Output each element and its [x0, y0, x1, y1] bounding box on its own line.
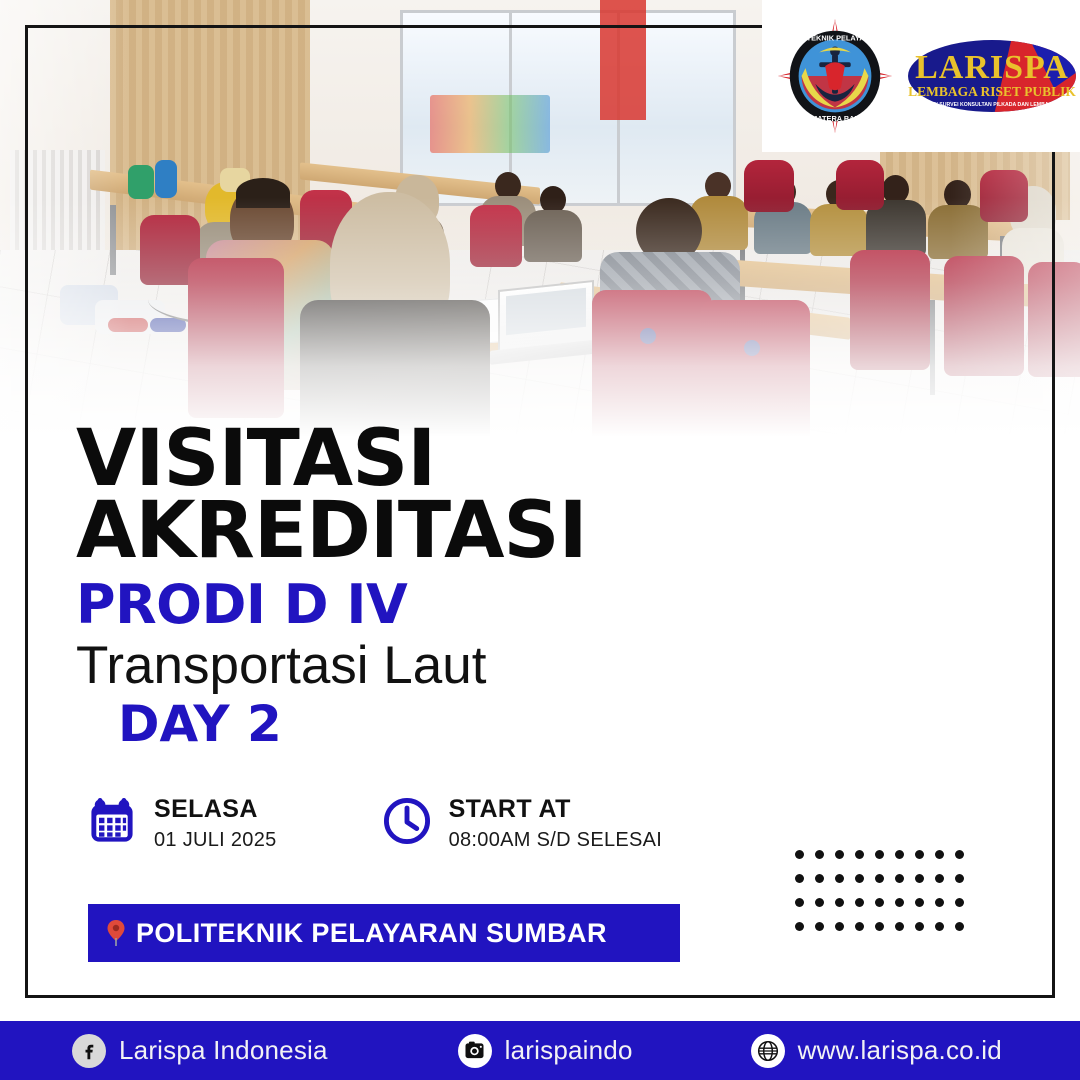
footer-facebook-label[interactable]: Larispa Indonesia: [119, 1035, 328, 1066]
logo-panel: POLITEKNIK PELAYARAN SUMATERA BARAT LARI…: [762, 0, 1080, 152]
footer-bar: Larispa Indonesia larispaindo: [0, 1021, 1080, 1080]
larispa-tagline: PENELITIAN SURVEI KONSULTAN PILKADA DAN …: [907, 102, 1077, 108]
footer-website-label[interactable]: www.larispa.co.id: [798, 1035, 1002, 1066]
seal-top-label: POLITEKNIK PELAYARAN: [789, 34, 880, 43]
day-label: DAY 2: [118, 699, 716, 749]
facebook-icon[interactable]: [72, 1034, 106, 1068]
event-info-row: SELASA 01 JULI 2025 START AT 08:00AM S/D…: [86, 795, 662, 852]
larispa-title: LARISPA: [915, 49, 1069, 86]
footer-facebook[interactable]: Larispa Indonesia: [72, 1034, 328, 1068]
headline-line-2: AKREDITASI: [76, 496, 716, 568]
event-time-value: 08:00AM S/D SELESAI: [449, 829, 663, 852]
event-time-item: START AT 08:00AM S/D SELESAI: [381, 795, 663, 852]
event-day-name: SELASA: [154, 795, 277, 824]
map-pin-icon: [106, 919, 126, 947]
headline-block: VISITASI AKREDITASI PRODI D IV Transport…: [76, 424, 716, 749]
event-time-title: START AT: [449, 795, 663, 824]
event-date-value: 01 JULI 2025: [154, 829, 277, 852]
politeknik-pelayaran-seal-icon: POLITEKNIK PELAYARAN SUMATERA BARAT: [776, 17, 894, 135]
event-date-item: SELASA 01 JULI 2025: [86, 795, 277, 852]
instagram-icon[interactable]: [458, 1034, 492, 1068]
footer-instagram[interactable]: larispaindo: [458, 1034, 633, 1068]
globe-icon[interactable]: [751, 1034, 785, 1068]
dot-grid-decoration: [795, 850, 975, 946]
footer-instagram-label[interactable]: larispaindo: [505, 1035, 633, 1066]
program-name: Transportasi Laut: [76, 638, 716, 694]
clock-icon: [381, 795, 433, 852]
larispa-logo-icon: LARISPA LEMBAGA RISET PUBLIK PENELITIAN …: [904, 28, 1080, 124]
location-banner: POLITEKNIK PELAYARAN SUMBAR: [88, 904, 680, 962]
footer-website[interactable]: www.larispa.co.id: [751, 1034, 1002, 1068]
calendar-icon: [86, 795, 138, 852]
larispa-subtitle: LEMBAGA RISET PUBLIK: [908, 84, 1076, 99]
location-label: POLITEKNIK PELAYARAN SUMBAR: [136, 918, 607, 949]
program-label: PRODI D IV: [76, 578, 716, 632]
headline-line-1: VISITASI: [76, 424, 716, 496]
seal-bottom-label: SUMATERA BARAT: [801, 114, 870, 123]
poster-canvas: POLITEKNIK PELAYARAN SUMATERA BARAT LARI…: [0, 0, 1080, 1080]
